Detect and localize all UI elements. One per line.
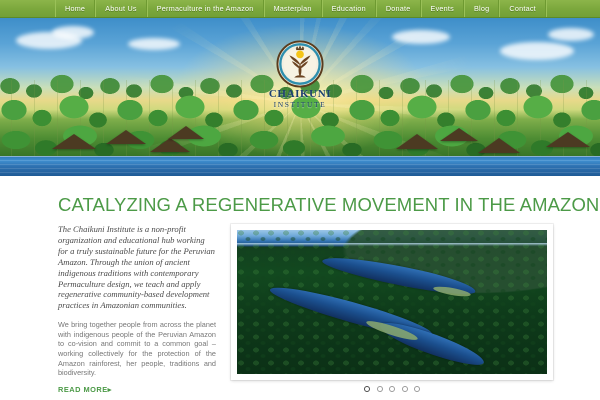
logo-title: CHAIKUNI xyxy=(254,89,346,100)
nav-label: Donate xyxy=(386,4,411,13)
nav-right-filler xyxy=(546,0,600,17)
nav-label: Blog xyxy=(474,4,489,13)
secondary-paragraph: We bring together people from across the… xyxy=(58,320,216,378)
thatched-hut xyxy=(440,128,478,141)
cloud-decoration xyxy=(392,30,450,44)
nav-label: Masterplan xyxy=(274,4,312,13)
carousel-slide xyxy=(237,230,547,374)
horizon-line xyxy=(237,243,547,246)
image-carousel[interactable] xyxy=(231,224,553,380)
thatched-hut xyxy=(478,138,520,153)
carousel-dot-4[interactable] xyxy=(402,386,408,392)
nav-item-donate[interactable]: Donate xyxy=(376,0,421,17)
nav-label: About Us xyxy=(105,4,137,13)
nav-label: Permaculture in the Amazon xyxy=(157,4,254,13)
thatched-hut xyxy=(396,134,438,149)
nav-label: Events xyxy=(431,4,454,13)
nav-item-blog[interactable]: Blog xyxy=(464,0,499,17)
carousel-dot-2[interactable] xyxy=(377,386,383,392)
logo-subtitle: INSTITUTE xyxy=(254,101,346,109)
nav-label: Home xyxy=(65,4,85,13)
nav-label: Contact xyxy=(509,4,536,13)
cloud-decoration xyxy=(52,26,94,39)
thatched-hut xyxy=(168,126,204,139)
cloud-decoration xyxy=(548,28,594,41)
nav-item-education[interactable]: Education xyxy=(322,0,376,17)
nav-left-spacer xyxy=(0,0,55,17)
thatched-hut xyxy=(106,130,146,144)
main-content: CATALYZING A REGENERATIVE MOVEMENT IN TH… xyxy=(0,176,600,400)
nav-item-masterplan[interactable]: Masterplan xyxy=(264,0,322,17)
read-more-link[interactable]: READ MORE▸ xyxy=(58,385,112,394)
nav-item-permaculture-in-the-amazon[interactable]: Permaculture in the Amazon xyxy=(147,0,264,17)
page-title: CATALYZING A REGENERATIVE MOVEMENT IN TH… xyxy=(58,194,599,216)
tree-of-life-circle-emblem-icon xyxy=(276,40,324,88)
nav-label: Education xyxy=(332,4,366,13)
carousel-dot-3[interactable] xyxy=(389,386,395,392)
cloud-decoration xyxy=(500,42,574,60)
cloud-decoration xyxy=(128,38,180,50)
read-more-label: READ MORE xyxy=(58,385,108,394)
intro-paragraph: The Chaikuni Institute is a non-profit o… xyxy=(58,224,216,311)
carousel-dots xyxy=(231,386,553,392)
intro-text-column: The Chaikuni Institute is a non-profit o… xyxy=(58,224,216,397)
nav-item-about-us[interactable]: About Us xyxy=(95,0,147,17)
nav-item-home[interactable]: Home xyxy=(55,0,95,17)
carousel-dot-1[interactable] xyxy=(364,386,370,392)
thatched-hut xyxy=(150,138,190,152)
nav-item-contact[interactable]: Contact xyxy=(499,0,546,17)
thatched-hut xyxy=(52,134,96,149)
nav-item-events[interactable]: Events xyxy=(421,0,464,17)
canopy-texture xyxy=(237,230,547,374)
site-logo[interactable]: CHAIKUNI INSTITUTE xyxy=(254,40,346,109)
arrow-right-icon: ▸ xyxy=(108,385,112,394)
river-water-band xyxy=(0,156,600,176)
thatched-hut xyxy=(546,132,590,147)
hero-banner: CHAIKUNI INSTITUTE xyxy=(0,18,600,176)
primary-navigation: Home About Us Permaculture in the Amazon… xyxy=(0,0,600,18)
carousel-dot-5[interactable] xyxy=(414,386,420,392)
